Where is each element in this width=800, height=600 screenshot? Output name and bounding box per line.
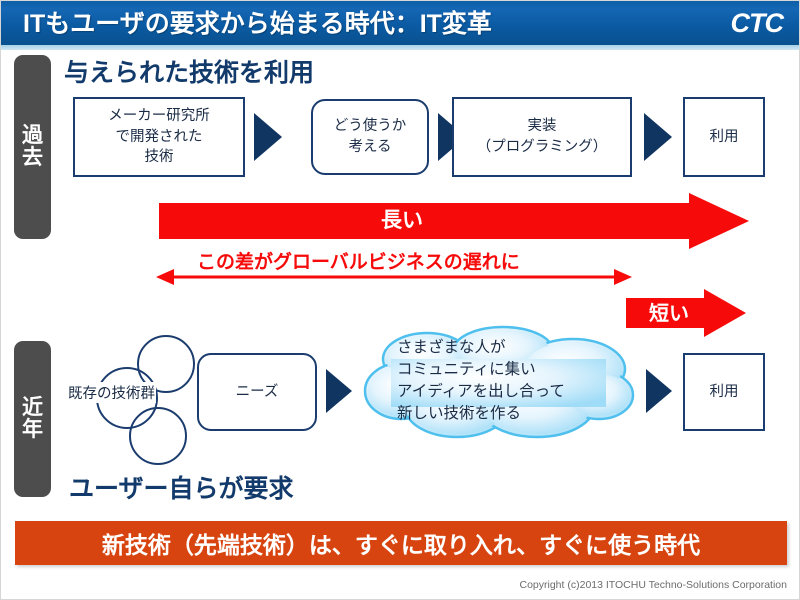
- process-box-maker-research-label: メーカー研究所 で開発された 技術: [108, 106, 210, 168]
- process-box-use-recent-label: 利用: [710, 382, 739, 403]
- copyright-text: Copyright (c)2013 ITOCHU Techno-Solution…: [520, 579, 788, 591]
- arrow-past-step3-to-step4: [644, 113, 672, 161]
- existing-tech-circle-bottom: [129, 407, 187, 465]
- process-box-how-to-use-label: どう使うか 考える: [334, 116, 407, 157]
- title-bar-underline: [1, 45, 800, 50]
- process-box-use-past-label: 利用: [710, 127, 739, 148]
- community-cloud-text: さまざまな人が コミュニティに集い アイディアを出し合って 新しい技術を作る: [397, 337, 565, 425]
- process-box-implementation-label: 実装 （プログラミング）: [477, 116, 608, 157]
- era-tab-recent-char1: 近: [22, 397, 43, 419]
- gap-double-arrow: [156, 267, 632, 292]
- process-box-needs: ニーズ: [197, 353, 317, 431]
- short-duration-arrow-label: 短い: [649, 297, 689, 326]
- gap-double-arrow-shape: [156, 267, 632, 287]
- process-box-use-recent: 利用: [683, 353, 765, 431]
- era-tab-past-char1: 過: [22, 125, 43, 147]
- conclusion-banner-text: 新技術（先端技術）は、すぐに取り入れ、すぐに使う時代: [102, 526, 700, 560]
- arrow-cloud-to-use: [646, 369, 672, 413]
- process-box-needs-label: ニーズ: [236, 382, 279, 403]
- long-duration-arrow: [159, 193, 749, 249]
- existing-tech-label: 既存の技術群: [67, 382, 156, 403]
- ctc-logo: CTC: [731, 6, 784, 40]
- era-tab-recent: 近 年: [14, 341, 51, 497]
- process-box-how-to-use: どう使うか 考える: [311, 99, 429, 175]
- conclusion-banner: 新技術（先端技術）は、すぐに取り入れ、すぐに使う時代: [15, 521, 787, 565]
- process-box-maker-research: メーカー研究所 で開発された 技術: [73, 97, 245, 177]
- era-tab-recent-char2: 年: [22, 419, 43, 441]
- long-duration-arrow-shape: [159, 193, 749, 249]
- section-heading-recent: ユーザー自らが要求: [69, 469, 294, 505]
- long-duration-arrow-label: 長い: [381, 204, 423, 234]
- arrow-needs-to-cloud: [326, 369, 352, 413]
- arrow-past-step1-to-step2: [254, 113, 282, 161]
- era-tab-past: 過 去: [14, 55, 51, 239]
- section-heading-past: 与えられた技術を利用: [64, 53, 314, 89]
- process-box-use-past: 利用: [683, 97, 765, 177]
- page-title: ITもユーザの要求から始まる時代：IT変革: [23, 5, 492, 43]
- era-tab-past-char2: 去: [22, 147, 43, 169]
- process-box-implementation: 実装 （プログラミング）: [452, 97, 632, 177]
- slide-canvas: ITもユーザの要求から始まる時代：IT変革 CTC 過 去 与えられた技術を利用…: [0, 0, 800, 600]
